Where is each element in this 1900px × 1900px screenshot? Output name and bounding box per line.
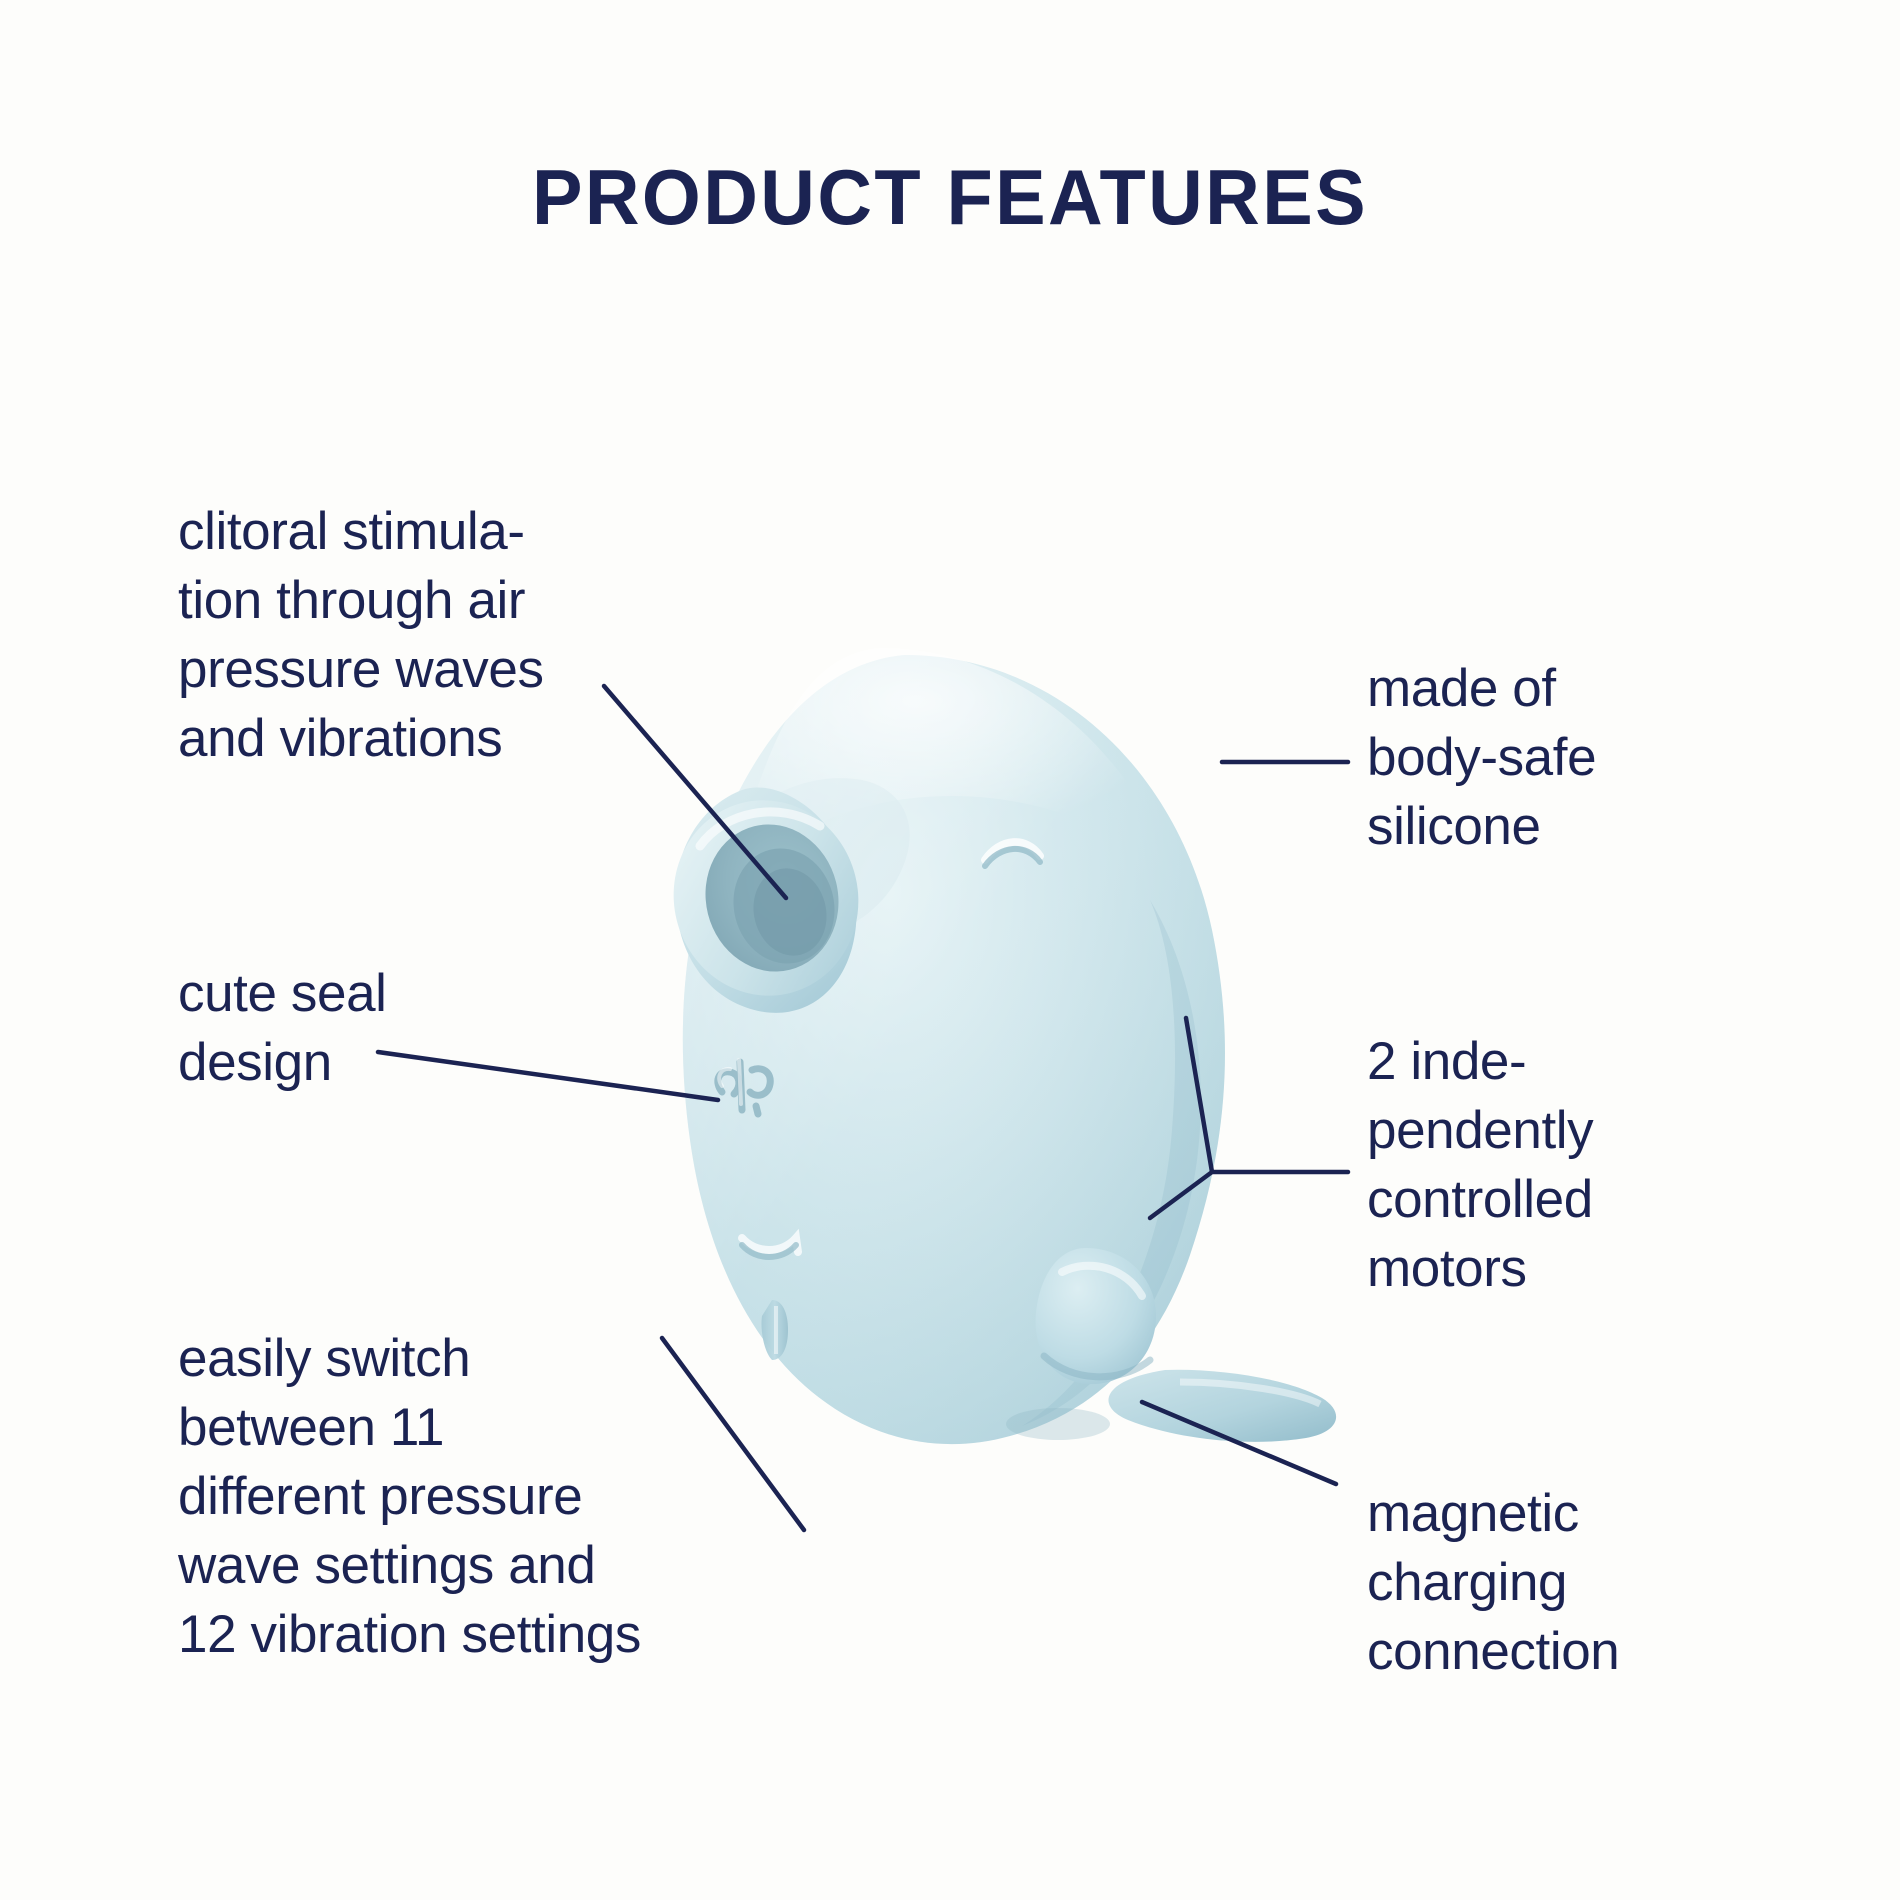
callout-magnetic-charging: magnetic charging connection: [1367, 1480, 1797, 1687]
product-features-infographic: PRODUCT FEATURES: [0, 0, 1900, 1900]
callout-clitoral-stimulation: clitoral stimula- tion through air press…: [178, 498, 648, 774]
product-charging-contacts: [1006, 1408, 1110, 1440]
callout-settings-switch: easily switch between 11 different press…: [178, 1325, 778, 1669]
product-flipper: [1108, 1370, 1336, 1442]
callout-body-safe-silicone: made of body-safe silicone: [1367, 655, 1787, 862]
callout-independent-motors: 2 inde- pendently controlled motors: [1367, 1028, 1797, 1304]
callout-seal-design: cute seal design: [178, 960, 558, 1098]
